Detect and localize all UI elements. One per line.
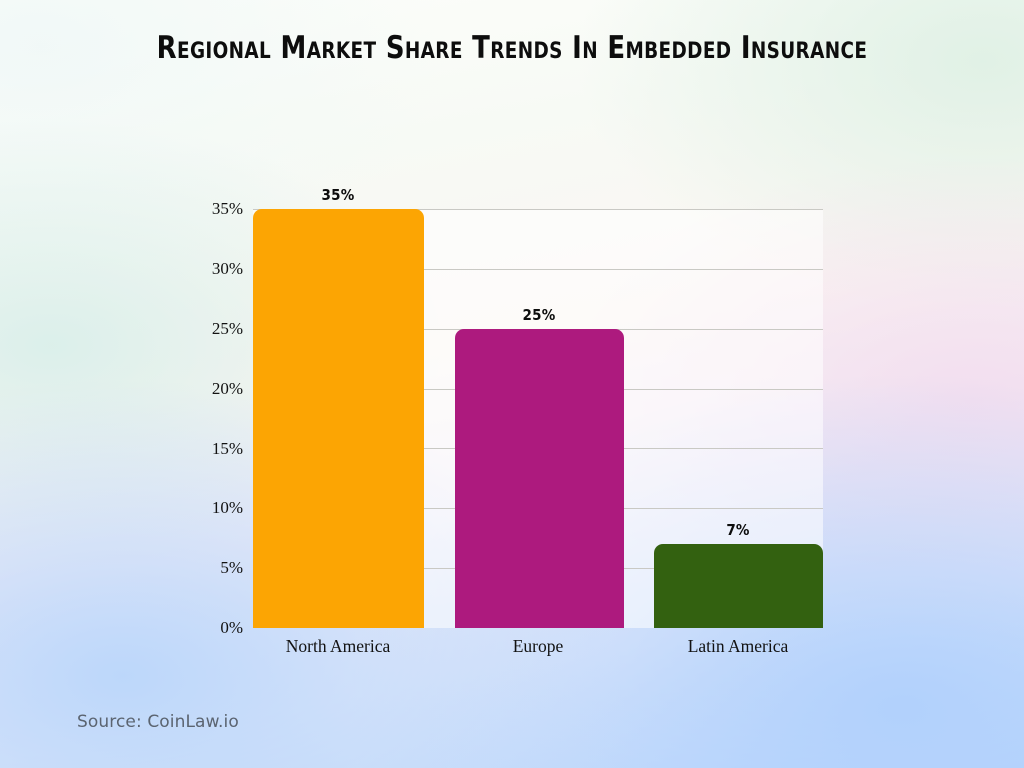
bar-value-label-europe: 25% [494,306,584,324]
bar-europe[interactable] [455,329,624,628]
y-tick-label: 10% [173,498,243,518]
x-tick-label-europe: Europe [438,636,638,657]
y-tick-label: 35% [173,199,243,219]
chart-canvas: Regional Market Share Trends in Embedded… [0,0,1024,768]
source-caption: Source: CoinLaw.io [77,712,239,732]
y-tick-label: 25% [173,319,243,339]
y-tick-label: 30% [173,259,243,279]
x-tick-label-latin-america: Latin America [638,636,838,657]
y-tick-label: 0% [173,618,243,638]
bar-value-label-latin-america: 7% [693,521,783,539]
bar-north-america[interactable] [253,209,424,628]
y-tick-label: 5% [173,558,243,578]
bar-latin-america[interactable] [654,544,823,628]
x-tick-label-north-america: North America [238,636,438,657]
chart-title: Regional Market Share Trends in Embedded… [129,30,895,67]
plot-area [253,209,823,628]
y-tick-label: 15% [173,439,243,459]
y-tick-label: 20% [173,379,243,399]
bar-value-label-north-america: 35% [293,186,383,204]
